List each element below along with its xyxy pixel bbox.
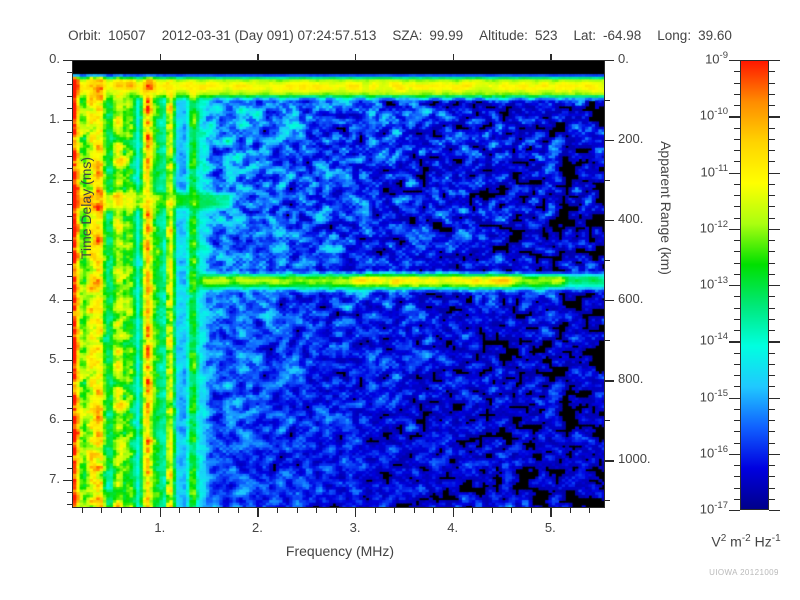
orbit-value: 10507	[108, 28, 146, 43]
colorbar-major-tick	[729, 398, 740, 399]
x-axis-title: Frequency (MHz)	[200, 543, 480, 559]
x-minor-tick	[316, 508, 317, 513]
y-tick-label: 7.	[10, 471, 60, 486]
sza-value: 99.99	[429, 28, 463, 43]
y-minor-tick	[67, 312, 72, 313]
y-minor-tick	[67, 324, 72, 325]
y-minor-tick	[67, 84, 72, 85]
observation-datetime: 2012-03-31 (Day 091) 07:24:57.513	[162, 28, 377, 43]
y-major-tick	[63, 480, 72, 481]
colorbar-minor-tick-right	[769, 71, 775, 72]
y-major-tick	[63, 240, 72, 241]
y-major-tick	[63, 300, 72, 301]
y-minor-tick	[67, 276, 72, 277]
y2-major-tick	[605, 300, 614, 301]
colorbar-minor-tick-right	[769, 364, 775, 365]
colorbar-major-tick-right	[769, 116, 780, 117]
y-minor-tick	[67, 168, 72, 169]
latitude-value: -64.98	[603, 28, 641, 43]
x-tick-label: 5.	[520, 520, 580, 535]
y-tick-label: 4.	[10, 291, 60, 306]
colorbar	[740, 60, 769, 510]
y-minor-tick	[67, 72, 72, 73]
colorbar-major-tick-right	[769, 398, 780, 399]
latitude-label: Lat:	[573, 28, 596, 43]
x-minor-tick	[531, 508, 532, 513]
colorbar-major-tick	[729, 60, 740, 61]
y-minor-tick	[67, 504, 72, 505]
y-tick-label: 2.	[10, 171, 60, 186]
colorbar-minor-tick-right	[769, 375, 775, 376]
y2-tick-label: 800.	[618, 371, 674, 386]
colorbar-major-tick-right	[769, 285, 780, 286]
x-tick-label: 1.	[130, 520, 190, 535]
altitude-label: Altitude:	[479, 28, 528, 43]
y-major-tick	[63, 360, 72, 361]
sza-label: SZA:	[392, 28, 422, 43]
colorbar-minor-tick-right	[769, 263, 775, 264]
x-tick-label: 4.	[423, 520, 483, 535]
x-major-tick-top	[257, 54, 258, 60]
x-major-tick-top	[453, 54, 454, 60]
colorbar-major-tick-right	[769, 60, 780, 61]
x-minor-tick	[589, 508, 590, 513]
x-major-tick-top	[355, 54, 356, 60]
colorbar-major-tick	[729, 454, 740, 455]
x-minor-tick	[121, 508, 122, 513]
y-minor-tick	[67, 408, 72, 409]
colorbar-major-tick-right	[769, 229, 780, 230]
colorbar-minor-tick-right	[769, 240, 775, 241]
colorbar-major-tick	[729, 229, 740, 230]
colorbar-minor-tick-right	[769, 499, 775, 500]
colorbar-major-tick-right	[769, 454, 780, 455]
orbit-label: Orbit:	[68, 28, 101, 43]
y-minor-tick	[67, 288, 72, 289]
colorbar-major-tick-right	[769, 341, 780, 342]
x-minor-tick	[218, 508, 219, 513]
longitude-value: 39.60	[698, 28, 732, 43]
colorbar-major-tick	[729, 116, 740, 117]
colorbar-tick-label: 10-15	[664, 388, 728, 404]
colorbar-minor-tick-right	[769, 353, 775, 354]
y2-major-tick	[605, 460, 614, 461]
colorbar-minor-tick-right	[769, 94, 775, 95]
colorbar-minor-tick-right	[769, 319, 775, 320]
colorbar-minor-tick-right	[769, 308, 775, 309]
y2-minor-tick	[605, 100, 610, 101]
colorbar-minor-tick-right	[769, 206, 775, 207]
colorbar-tick-label: 10-16	[664, 444, 728, 460]
y-minor-tick	[67, 132, 72, 133]
y-minor-tick	[67, 444, 72, 445]
colorbar-major-tick	[729, 173, 740, 174]
y2-axis-line	[604, 60, 605, 507]
y-minor-tick	[67, 204, 72, 205]
x-minor-tick	[199, 508, 200, 513]
colorbar-minor-tick-right	[769, 195, 775, 196]
x-tick-label: 2.	[227, 520, 287, 535]
x-major-tick	[453, 508, 454, 517]
y-tick-label: 6.	[10, 411, 60, 426]
colorbar-minor-tick-right	[769, 465, 775, 466]
colorbar-minor-tick-right	[769, 386, 775, 387]
y-minor-tick	[67, 252, 72, 253]
colorbar-minor-tick-right	[769, 330, 775, 331]
x-minor-tick	[414, 508, 415, 513]
y-minor-tick	[67, 216, 72, 217]
y-major-tick	[63, 420, 72, 421]
colorbar-minor-tick-right	[769, 409, 775, 410]
colorbar-major-tick	[729, 510, 740, 511]
colorbar-tick-label: 10-14	[664, 331, 728, 347]
altitude-value: 523	[535, 28, 558, 43]
colorbar-minor-tick-right	[769, 443, 775, 444]
x-minor-tick	[179, 508, 180, 513]
y-minor-tick	[67, 372, 72, 373]
y-minor-tick	[67, 432, 72, 433]
colorbar-tick-label: 10-17	[664, 500, 728, 516]
x-minor-tick	[492, 508, 493, 513]
x-minor-tick	[101, 508, 102, 513]
colorbar-minor-tick-right	[769, 476, 775, 477]
colorbar-major-tick-right	[769, 510, 780, 511]
y-minor-tick	[67, 264, 72, 265]
y2-major-tick	[605, 380, 614, 381]
colorbar-minor-tick-right	[769, 128, 775, 129]
x-major-tick-top	[160, 54, 161, 60]
y-minor-tick	[67, 348, 72, 349]
y-minor-tick	[67, 384, 72, 385]
y-minor-tick	[67, 144, 72, 145]
x-major-tick	[160, 508, 161, 517]
y2-axis-title: Apparent Range (km)	[658, 108, 674, 308]
colorbar-minor-tick-right	[769, 105, 775, 106]
y-tick-label: 1.	[10, 111, 60, 126]
x-major-tick	[355, 508, 356, 517]
y2-minor-tick	[605, 420, 610, 421]
colorbar-minor-tick-right	[769, 274, 775, 275]
x-axis-line	[72, 507, 605, 508]
y2-minor-tick	[605, 500, 610, 501]
colorbar-minor-tick-right	[769, 431, 775, 432]
colorbar-minor-tick-right	[769, 184, 775, 185]
y-major-tick	[63, 60, 72, 61]
colorbar-minor-tick-right	[769, 218, 775, 219]
y-minor-tick	[67, 336, 72, 337]
colorbar-major-tick	[729, 341, 740, 342]
y-major-tick	[63, 180, 72, 181]
colorbar-major-tick-right	[769, 173, 780, 174]
x-minor-tick	[82, 508, 83, 513]
y2-minor-tick	[605, 340, 610, 341]
x-minor-tick	[570, 508, 571, 513]
y2-minor-tick	[605, 180, 610, 181]
colorbar-major-tick	[729, 285, 740, 286]
radargram-heatmap	[73, 61, 605, 508]
y2-major-tick	[605, 220, 614, 221]
x-minor-tick	[297, 508, 298, 513]
longitude-label: Long:	[657, 28, 691, 43]
y-minor-tick	[67, 396, 72, 397]
y-minor-tick	[67, 156, 72, 157]
x-minor-tick	[433, 508, 434, 513]
colorbar-gradient	[740, 60, 769, 510]
x-minor-tick	[277, 508, 278, 513]
y-axis-line	[72, 60, 73, 507]
x-minor-tick	[394, 508, 395, 513]
x-minor-tick	[238, 508, 239, 513]
colorbar-units-label: V2 m-2 Hz-1	[694, 533, 798, 550]
x-minor-tick	[511, 508, 512, 513]
y-tick-label: 0.	[10, 51, 60, 66]
top-axis-line	[72, 60, 604, 61]
y-minor-tick	[67, 468, 72, 469]
y-minor-tick	[67, 96, 72, 97]
plot-header: Orbit: 10507 2012-03-31 (Day 091) 07:24:…	[0, 28, 800, 48]
x-major-tick	[550, 508, 551, 517]
colorbar-minor-tick-right	[769, 139, 775, 140]
x-minor-tick	[140, 508, 141, 513]
y-tick-label: 5.	[10, 351, 60, 366]
y2-major-tick	[605, 60, 614, 61]
colorbar-minor-tick-right	[769, 420, 775, 421]
y-major-tick	[63, 120, 72, 121]
colorbar-tick-label: 10-9	[664, 50, 728, 66]
colorbar-minor-tick-right	[769, 488, 775, 489]
y-axis-title: Time Delay (ms)	[78, 118, 94, 298]
colorbar-minor-tick-right	[769, 161, 775, 162]
x-major-tick	[257, 508, 258, 517]
y-minor-tick	[67, 456, 72, 457]
radargram-plot-area	[72, 60, 604, 507]
x-tick-label: 3.	[325, 520, 385, 535]
y-tick-label: 3.	[10, 231, 60, 246]
y-minor-tick	[67, 108, 72, 109]
y2-major-tick	[605, 140, 614, 141]
x-minor-tick	[472, 508, 473, 513]
y-minor-tick	[67, 492, 72, 493]
y-minor-tick	[67, 192, 72, 193]
x-minor-tick	[375, 508, 376, 513]
y2-minor-tick	[605, 260, 610, 261]
colorbar-minor-tick-right	[769, 251, 775, 252]
credit-footer: UIOWA 20121009	[690, 568, 798, 577]
x-minor-tick	[336, 508, 337, 513]
x-major-tick-top	[550, 54, 551, 60]
colorbar-minor-tick-right	[769, 150, 775, 151]
colorbar-minor-tick-right	[769, 296, 775, 297]
colorbar-minor-tick-right	[769, 83, 775, 84]
y-minor-tick	[67, 228, 72, 229]
